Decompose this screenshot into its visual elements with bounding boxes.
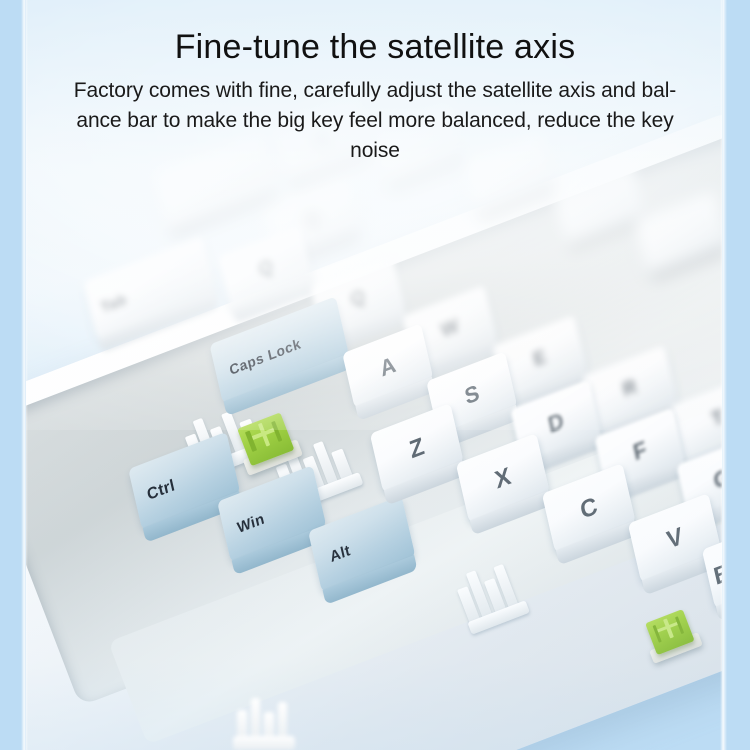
key-label-alt: Alt bbox=[328, 541, 352, 565]
key-label-f: F bbox=[631, 436, 649, 466]
key-label-tab: Tab bbox=[100, 290, 129, 315]
key-label-c: C bbox=[578, 492, 601, 526]
page-description: Factory comes with fine, carefully adjus… bbox=[0, 64, 750, 166]
key-label-ctrl: Ctrl bbox=[146, 477, 177, 505]
description-line-1: Factory comes with fine, carefully adjus… bbox=[20, 76, 730, 106]
description-line-3: noise bbox=[20, 136, 730, 166]
key-label-x: X bbox=[492, 462, 513, 495]
text-block: Fine-tune the satellite axis Factory com… bbox=[0, 0, 750, 166]
key-label-s: S bbox=[462, 380, 482, 411]
description-line-2: ance bar to make the big key feel more b… bbox=[20, 106, 730, 136]
key-label: W bbox=[439, 315, 461, 343]
key-label-a: A bbox=[378, 351, 399, 382]
key-label-caps-lock: Caps Lock bbox=[228, 335, 303, 378]
key-label-v: V bbox=[664, 522, 685, 555]
product-detail-image: Q Q bbox=[0, 0, 750, 750]
key-label: R bbox=[621, 376, 639, 402]
key-label: Q bbox=[348, 286, 367, 313]
key-label: E bbox=[531, 346, 548, 372]
key-label-d: D bbox=[546, 407, 567, 438]
key-label-win: Win bbox=[236, 510, 267, 537]
page-title: Fine-tune the satellite axis bbox=[0, 0, 750, 64]
loose-stabilizer-part bbox=[231, 690, 311, 750]
key-label: Q bbox=[256, 256, 275, 283]
key-label-z: Z bbox=[407, 433, 427, 466]
